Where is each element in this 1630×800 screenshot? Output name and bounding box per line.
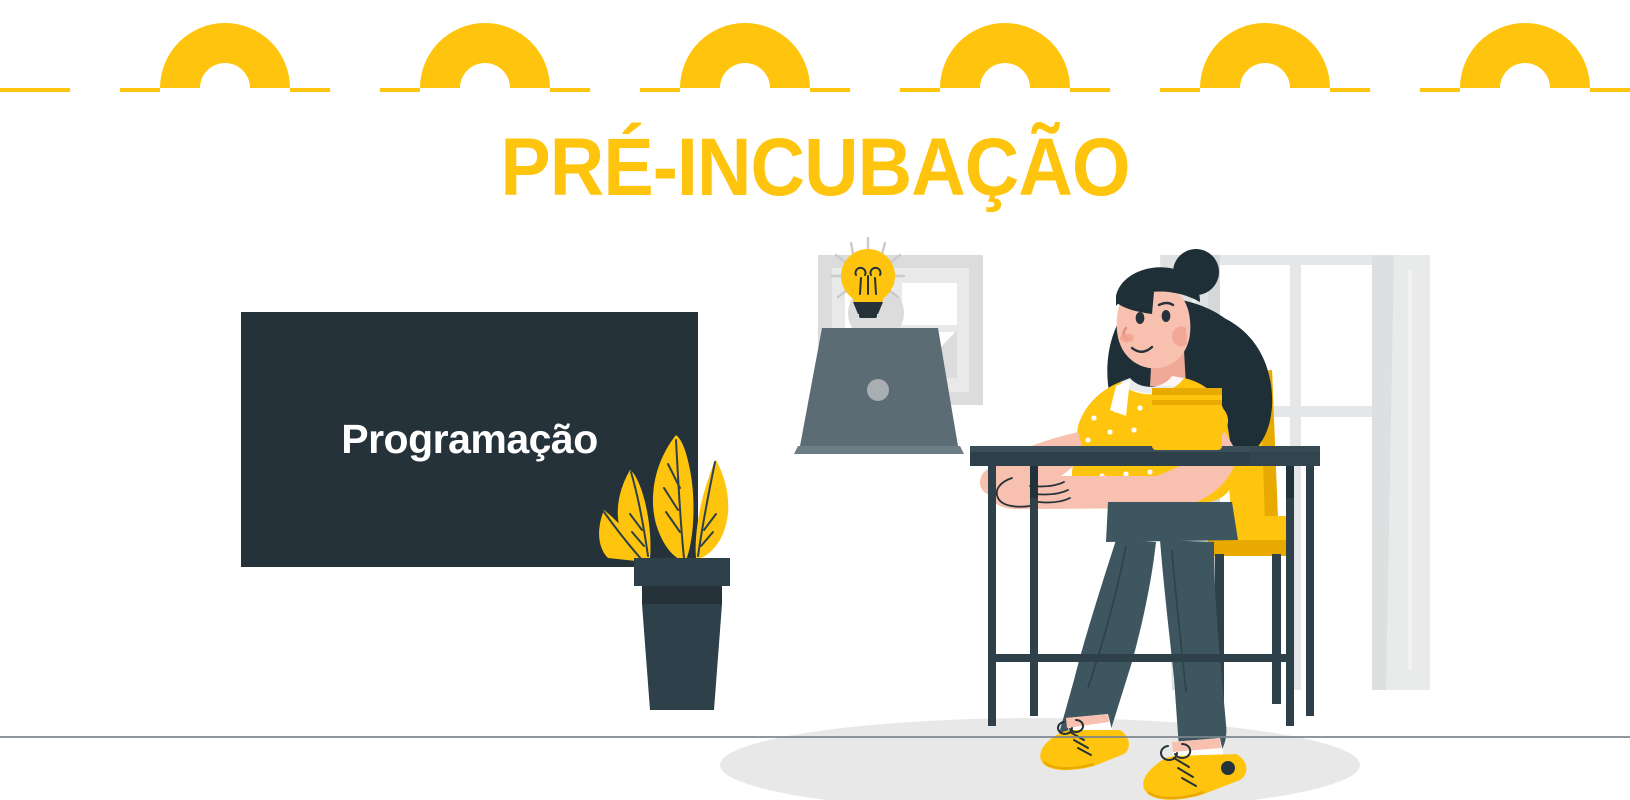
blush [1120, 334, 1134, 343]
bulb-base [853, 302, 883, 314]
desk-leg-left-front [988, 466, 996, 726]
pot-band [642, 586, 722, 604]
hips [1106, 502, 1238, 542]
desk-leg-right-front [1286, 466, 1294, 726]
workspace-illustration [560, 210, 1430, 800]
desk-rail [988, 654, 1294, 662]
gray-laptop [794, 328, 964, 454]
shoe-logo-dot [1221, 761, 1235, 775]
laptop-logo [867, 379, 889, 401]
wave-pattern-svg [0, 0, 1630, 92]
laptop-base [794, 446, 964, 454]
desk-leg-left-back [1030, 466, 1038, 716]
pot-rim [634, 558, 730, 586]
wave-arcs [0, 23, 1630, 92]
page-title: PRÉ-INCUBAÇÃO [65, 126, 1565, 210]
eye-left [1136, 312, 1145, 324]
poster-canvas: PRÉ-INCUBAÇÃO Programação [0, 0, 1630, 800]
eye-right [1162, 310, 1171, 322]
desk-leg-right-back [1306, 466, 1314, 716]
floor-line [0, 736, 1630, 738]
decorative-wave-band [0, 0, 1630, 92]
floor-shadow-ellipse [720, 718, 1360, 800]
yellow-coffee-mug [1152, 388, 1228, 450]
plant-leaves [599, 435, 728, 562]
illustration-svg [560, 210, 1430, 800]
potted-plant [599, 435, 730, 710]
mug-body [1152, 388, 1222, 450]
woman-figure [980, 249, 1272, 800]
pot-body [642, 604, 722, 710]
